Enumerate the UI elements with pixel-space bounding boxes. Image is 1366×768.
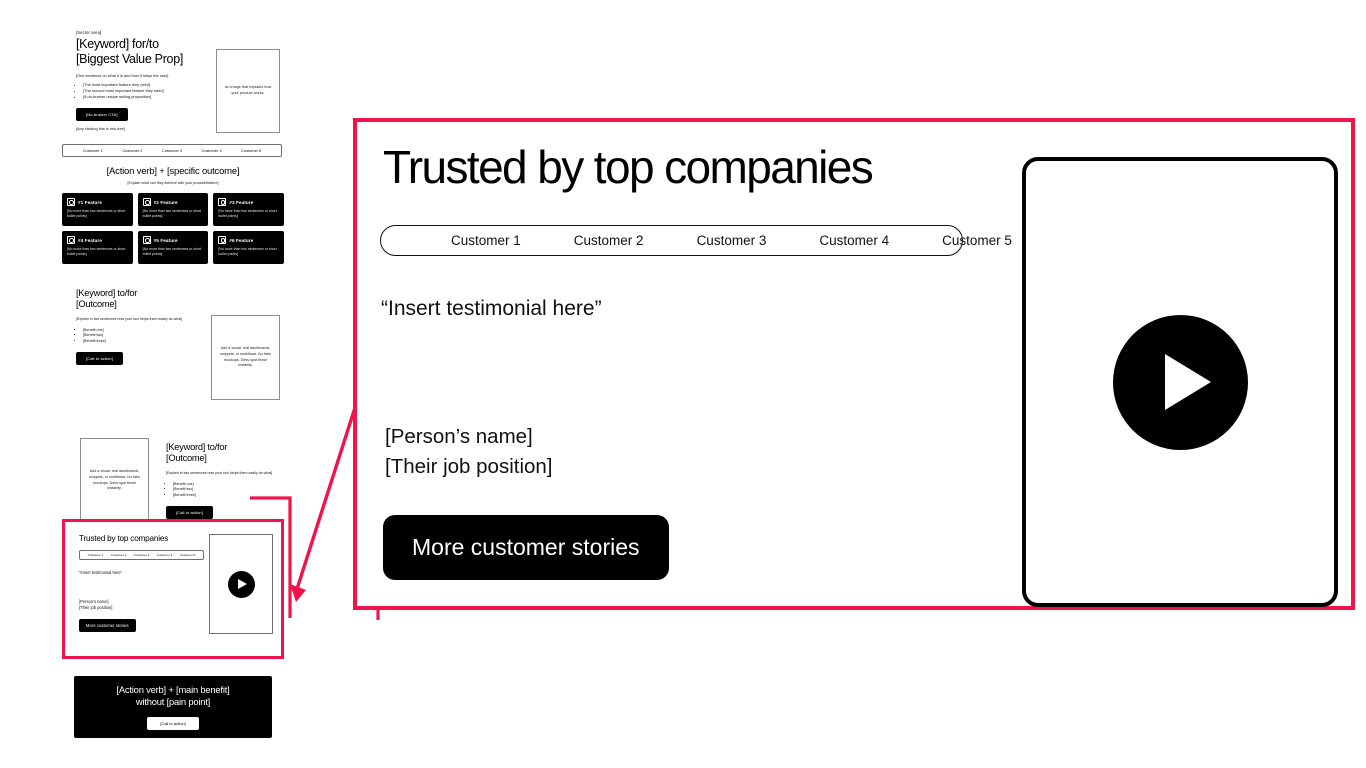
feature-card-header: #5 Feature xyxy=(143,236,204,244)
feature-card-header: #1 Feature xyxy=(67,198,128,206)
feature-body: [No more than two sentences or short bul… xyxy=(218,247,279,257)
final-cta-headline-line2: without [pain point] xyxy=(136,696,210,707)
feature-title: #2 Feature xyxy=(154,200,178,205)
features-heading: [Action verb] + [specific outcome] xyxy=(62,166,284,177)
testimonial-thumb-video[interactable] xyxy=(209,534,273,634)
testimonial-quote: “Insert testimonial here” xyxy=(381,297,602,321)
feature-body: [No more than two sentences or short bul… xyxy=(67,209,128,219)
wireframe-section-benefit-left: [Keyword] to/for [Outcome] [Explain in t… xyxy=(76,288,284,388)
feature-card-header: #4 Feature xyxy=(67,236,128,244)
customer-item[interactable]: Customer 1 xyxy=(451,233,521,248)
benefit-right-bullets: [Benefit one] [Benefit two] [Benefit thr… xyxy=(166,482,284,500)
testimonial-person-name: [Person’s name] xyxy=(385,425,533,448)
page-title: Trusted by top companies xyxy=(383,144,872,190)
features-subheading: [Explain what can they achieve with your… xyxy=(62,181,284,185)
testimonial-thumb-person-name: [Person’s name] xyxy=(79,599,109,604)
feature-card[interactable]: #4 Feature [No more than two sentences o… xyxy=(62,231,133,264)
feature-card-header: #6 Feature xyxy=(218,236,279,244)
testimonial-thumb-person-role: [Their job position] xyxy=(79,605,112,610)
benefit-left-headline-line2: [Outcome] xyxy=(76,299,117,309)
feature-card[interactable]: #2 Feature [No more than two sentences o… xyxy=(138,193,209,226)
play-icon[interactable] xyxy=(1113,315,1248,450)
benefit-left-headline-line1: [Keyword] to/for xyxy=(76,288,137,298)
customer-item[interactable]: Customer 1 xyxy=(88,553,104,557)
customer-item[interactable]: Customer 5 xyxy=(241,148,261,153)
benefit-right-headline-line2: [Outcome] xyxy=(166,453,207,463)
customer-item[interactable]: Customer 5 xyxy=(180,553,196,557)
customer-item[interactable]: Customer 4 xyxy=(157,553,173,557)
canvas: [Sector area] [Keyword] for/to [Biggest … xyxy=(0,0,1366,768)
feature-icon xyxy=(218,198,226,206)
more-customer-stories-button[interactable]: More customer stories xyxy=(383,515,669,580)
panel-inner: Trusted by top companies Customer 1 Cust… xyxy=(357,122,1351,606)
customer-item[interactable]: Customer 2 xyxy=(111,553,127,557)
benefit-right-content: [Keyword] to/for [Outcome] [Explain in t… xyxy=(166,442,284,519)
hero-headline-line1: [Keyword] for/to xyxy=(76,37,159,51)
feature-icon xyxy=(67,198,75,206)
feature-card[interactable]: #5 Feature [No more than two sentences o… xyxy=(138,231,209,264)
features-grid: #1 Feature [No more than two sentences o… xyxy=(62,193,284,264)
feature-title: #6 Feature xyxy=(229,238,253,243)
hero-eyebrow: [Sector area] xyxy=(76,30,284,35)
customer-item[interactable]: Customer 3 xyxy=(162,148,182,153)
benefit-left-headline: [Keyword] to/for [Outcome] xyxy=(76,288,284,310)
testimonial-person-role: [Their job position] xyxy=(385,455,553,478)
feature-body: [No more than two sentences or short bul… xyxy=(218,209,279,219)
wireframe-section-final-cta: [Action verb] + [main benefit] without [… xyxy=(74,676,272,738)
hero-headline-line2: [Biggest Value Prop] xyxy=(76,52,183,66)
feature-card[interactable]: #1 Feature [No more than two sentences o… xyxy=(62,193,133,226)
final-cta-button[interactable]: [Call to action] xyxy=(147,717,198,730)
hero-cta-button[interactable]: [No-brainer CTA] xyxy=(76,108,128,121)
testimonial-thumb-customer-bar: Customer 1 Customer 2 Customer 3 Custome… xyxy=(79,550,204,560)
benefit-right-image-placeholder: Add a visual: real dashboards, snippets,… xyxy=(80,438,149,523)
feature-card[interactable]: #6 Feature [No more than two sentences o… xyxy=(213,231,284,264)
customer-logo-bar: Customer 1 Customer 2 Customer 3 Custome… xyxy=(62,144,282,157)
customer-item[interactable]: Customer 2 xyxy=(122,148,142,153)
video-player[interactable] xyxy=(1022,157,1338,607)
zoom-detail-panel: Trusted by top companies Customer 1 Cust… xyxy=(353,118,1355,610)
final-cta-headline: [Action verb] + [main benefit] without [… xyxy=(116,684,229,708)
wireframe-section-hero: [Sector area] [Keyword] for/to [Biggest … xyxy=(76,30,284,148)
feature-title: #1 Feature xyxy=(78,200,102,205)
customer-item[interactable]: Customer 4 xyxy=(202,148,222,153)
benefit-right-headline: [Keyword] to/for [Outcome] xyxy=(166,442,284,464)
feature-card[interactable]: #3 Feature [No more than two sentences o… xyxy=(213,193,284,226)
customer-item[interactable]: Customer 1 xyxy=(83,148,103,153)
list-item: [Benefit three] xyxy=(173,493,284,499)
highlighted-section-testimonial[interactable]: Trusted by top companies Customer 1 Cust… xyxy=(62,519,284,659)
feature-title: #5 Feature xyxy=(154,238,178,243)
customer-item[interactable]: Customer 3 xyxy=(134,553,150,557)
testimonial-thumb-cta-button[interactable]: More customer stories xyxy=(79,619,136,632)
benefit-right-cta-button[interactable]: [Call to action] xyxy=(166,506,213,519)
feature-body: [No more than two sentences or short bul… xyxy=(67,247,128,257)
feature-icon xyxy=(67,236,75,244)
customer-item[interactable]: Customer 3 xyxy=(697,233,767,248)
feature-icon xyxy=(143,236,151,244)
final-cta-headline-line1: [Action verb] + [main benefit] xyxy=(116,684,229,695)
benefit-left-image-placeholder: Add a visual: real dashboards, snippets,… xyxy=(211,315,280,400)
benefit-right-paragraph: [Explain in two sentences how your tool … xyxy=(166,471,284,476)
benefit-right-headline-line1: [Keyword] to/for xyxy=(166,442,227,452)
benefit-left-cta-button[interactable]: [Call to action] xyxy=(76,352,123,365)
feature-icon xyxy=(218,236,226,244)
customer-item[interactable]: Customer 5 xyxy=(942,233,1012,248)
feature-title: #4 Feature xyxy=(78,238,102,243)
feature-card-header: #2 Feature xyxy=(143,198,204,206)
feature-body: [No more than two sentences or short bul… xyxy=(143,209,204,219)
customer-logo-bar-large: Customer 1 Customer 2 Customer 3 Custome… xyxy=(380,225,963,256)
play-icon[interactable] xyxy=(228,571,255,598)
feature-title: #3 Feature xyxy=(229,200,253,205)
customer-item[interactable]: Customer 4 xyxy=(819,233,889,248)
wireframe-section-features: [Action verb] + [specific outcome] [Expl… xyxy=(62,166,284,264)
testimonial-attribution: [Person’s name] [Their job position] xyxy=(385,422,553,482)
wireframe-section-benefit-right: Add a visual: real dashboards, snippets,… xyxy=(76,414,284,514)
feature-body: [No more than two sentences or short bul… xyxy=(143,247,204,257)
hero-image-placeholder: An image that explains how your product … xyxy=(216,49,280,133)
feature-icon xyxy=(143,198,151,206)
customer-item[interactable]: Customer 2 xyxy=(574,233,644,248)
feature-card-header: #3 Feature xyxy=(218,198,279,206)
